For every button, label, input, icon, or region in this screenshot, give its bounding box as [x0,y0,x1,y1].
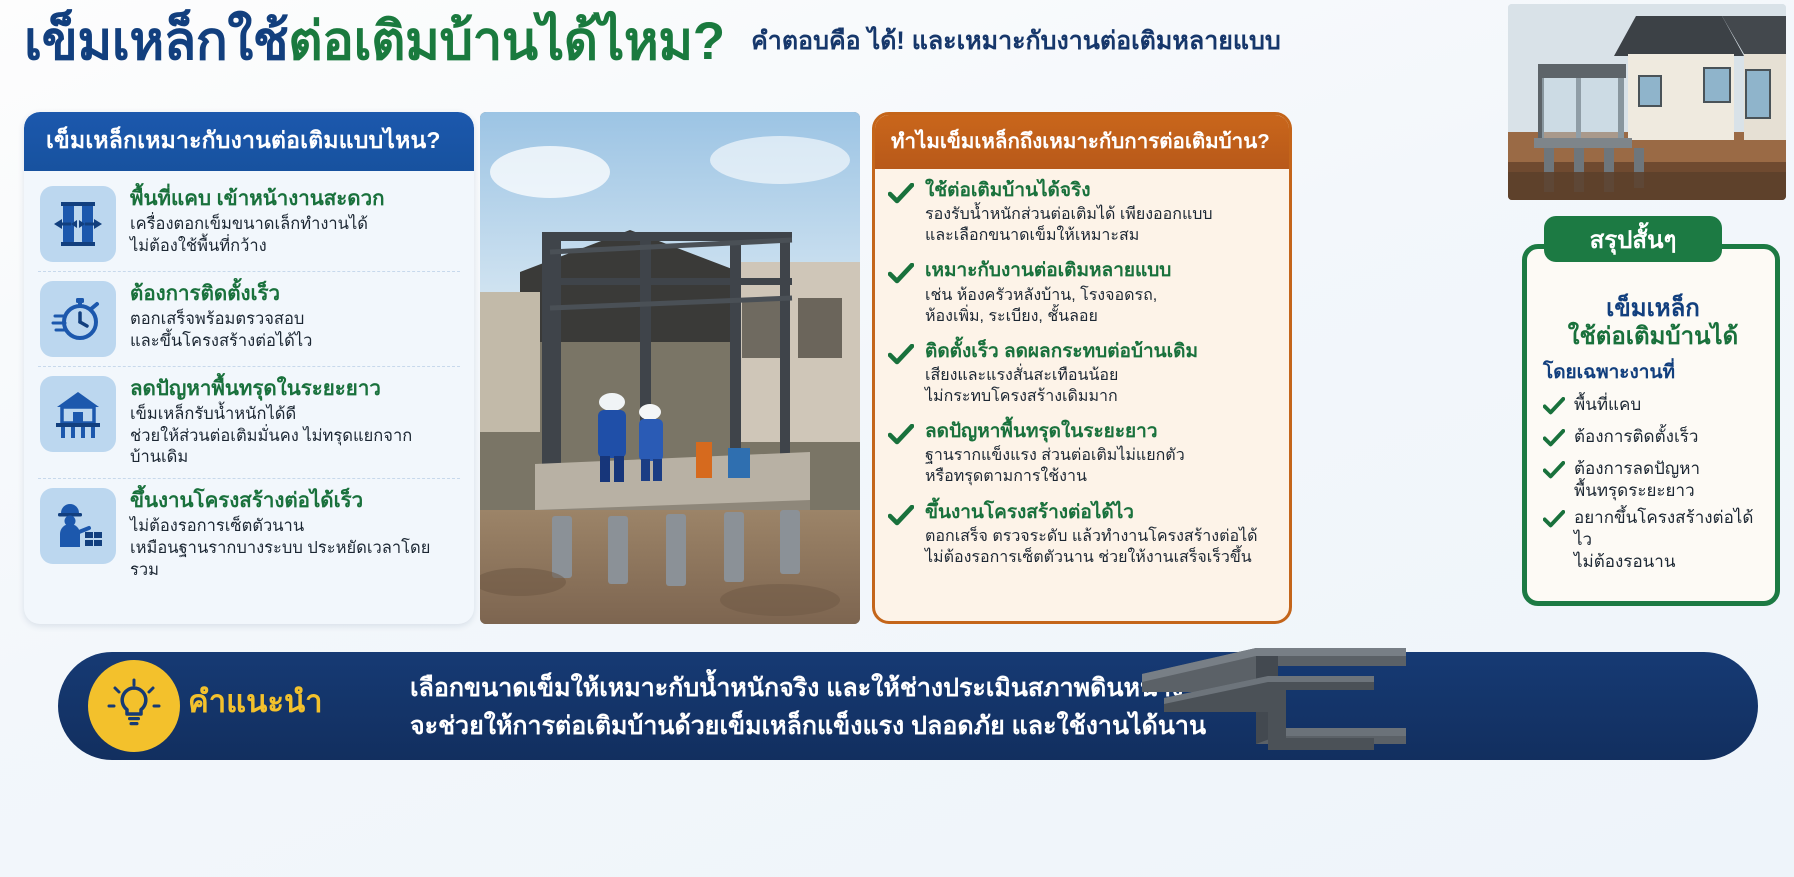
check-icon [888,420,914,487]
list-item-desc-1: เข็มเหล็กรับน้ำหนักได้ดี [130,404,412,426]
list-item-desc-1: เช่น ห้องครัวหลังบ้าน, โรงจอดรถ, [925,285,1171,306]
check-icon-svg [1543,510,1565,529]
list-item-text: ใช้ต่อเติมบ้านได้จริง รองรับน้ำหนักส่วนต… [925,179,1213,246]
list-item-text: ลดปัญหาพื้นทรุดในระยะยาว เข็มเหล็กรับน้ำ… [130,376,412,469]
check-icon [888,259,914,326]
right-panel-heading: ทำไมเข็มเหล็กถึงเหมาะกับการต่อเติมบ้าน? [875,115,1289,169]
list-item-title: ติดตั้งเร็ว ลดผลกระทบต่อบ้านเดิม [925,340,1198,363]
list-item-desc-3: บ้านเดิม [130,447,412,469]
house-illustration-svg [1508,4,1786,200]
list-item-desc-1: ไม่ต้องรอการเซ็ตตัวนาน [130,516,458,538]
list-item-title: ลดปัญหาพื้นทรุดในระยะยาว [925,420,1185,443]
list-item-title: เหมาะกับงานต่อเติมหลายแบบ [925,259,1171,282]
check-icon-svg [888,505,914,527]
list-item-desc-2: ไม่กระทบโครงสร้างเดิมมาก [925,386,1198,407]
narrow-space-icon-svg [51,197,105,251]
check-icon-svg [1543,397,1565,416]
list-item: ขึ้นงานโครงสร้างต่อได้ไว ตอกเสร็จ ตรวจระ… [888,501,1274,568]
check-icon [888,179,914,246]
list-item-text: พื้นที่แคบ เข้าหน้างานสะดวก เครื่องตอกเข… [130,186,385,262]
advice-keyword: คำแนะนำ [188,676,323,726]
steel-i-beam-illustration [1128,632,1406,754]
list-item: ต้องการลดปัญหา พื้นทรุดระยะยาว [1543,458,1763,502]
list-item: ต้องการติดตั้งเร็ว [1543,426,1763,453]
check-icon [888,501,914,568]
check-icon-svg [1543,461,1565,480]
list-item-desc-1: รองรับน้ำหนักส่วนต่อเติมได้ เพียงออกแบบ [925,204,1213,225]
list-item: อยากขึ้นโครงสร้างต่อได้ไว ไม่ต้องรอนาน [1543,507,1763,573]
worker-bricklaying-icon [40,488,116,564]
list-item-text: ติดตั้งเร็ว ลดผลกระทบต่อบ้านเดิม เสียงแล… [925,340,1198,407]
list-item-title: ขึ้นงานโครงสร้างต่อได้เร็ว [130,489,458,514]
check-icon-svg [888,424,914,446]
advice-line-2: จะช่วยให้การต่อเติมบ้านด้วยเข็มเหล็กแข็ง… [410,706,1206,746]
check-icon-svg [1543,429,1565,448]
list-item-desc-2: และขึ้นโครงสร้างต่อได้ไว [130,331,312,353]
steel-i-beam-illustration-svg [1128,632,1406,754]
stopwatch-icon [40,281,116,357]
house-on-piles-icon-svg [51,387,105,441]
list-item: ลดปัญหาพื้นทรุดในระยะยาว ฐานรากแข็งแรง ส… [888,420,1274,487]
list-item-text: ต้องการติดตั้งเร็ว ตอกเสร็จพร้อมตรวจสอบ … [130,281,312,357]
summary-tag: สรุปสั้นๆ [1544,216,1722,262]
check-icon-svg [888,183,914,205]
list-item: ขึ้นงานโครงสร้างต่อได้เร็ว ไม่ต้องรอการเ… [38,479,460,590]
summary-item-line-1: อยากขึ้นโครงสร้างต่อได้ไว [1574,508,1753,549]
list-item-desc-2: ไม่ต้องใช้พื้นที่กว้าง [130,236,385,258]
summary-line-2: ใช้ต่อเติมบ้านได้ [1543,323,1763,351]
worker-bricklaying-icon-svg [51,499,105,553]
page-title-part1: เข็มเหล็กใช้ [24,12,288,71]
page-subtitle: คำตอบคือ ได้! และเหมาะกับงานต่อเติมหลายแ… [751,21,1281,61]
list-item-text: อยากขึ้นโครงสร้างต่อได้ไว ไม่ต้องรอนาน [1574,507,1763,573]
construction-site-photo [480,112,860,624]
summary-item-line-1: ต้องการลดปัญหา [1574,459,1700,478]
summary-line-3: โดยเฉพาะงานที่ [1543,357,1763,387]
list-item-title: ขึ้นงานโครงสร้างต่อได้ไว [925,501,1258,524]
summary-item-line-1: พื้นที่แคบ [1574,395,1641,414]
check-icon-svg [888,344,914,366]
list-item-desc-2: ห้องเพิ่ม, ระเบียง, ชั้นลอย [925,306,1171,327]
list-item-text: ขึ้นงานโครงสร้างต่อได้ไว ตอกเสร็จ ตรวจระ… [925,501,1258,568]
page-title: เข็มเหล็กใช้ต่อเติมบ้านได้ไหม? [24,14,725,70]
page-title-part2: ต่อเติมบ้านได้ไหม? [288,12,724,71]
left-panel: เข็มเหล็กเหมาะกับงานต่อเติมแบบไหน? [24,112,474,624]
right-panel: ทำไมเข็มเหล็กถึงเหมาะกับการต่อเติมบ้าน? … [872,112,1292,624]
summary-box: เข็มเหล็ก ใช้ต่อเติมบ้านได้ โดยเฉพาะงานท… [1522,244,1780,606]
construction-site-photo-svg [480,112,860,624]
check-icon [1543,426,1565,453]
list-item: ใช้ต่อเติมบ้านได้จริง รองรับน้ำหนักส่วนต… [888,179,1274,246]
list-item-title: พื้นที่แคบ เข้าหน้างานสะดวก [130,187,385,212]
summary-item-line-2: พื้นทรุดระยะยาว [1574,481,1695,500]
list-item-text: ต้องการติดตั้งเร็ว [1574,426,1698,453]
list-item-desc-1: ฐานรากแข็งแรง ส่วนต่อเติมไม่แยกตัว [925,445,1185,466]
list-item-desc-1: เสียงและแรงสั่นสะเทือนน้อย [925,365,1198,386]
check-icon-svg [888,263,914,285]
list-item-desc-2: ช่วยให้ส่วนต่อเติมมั่นคง ไม่ทรุดแยกจาก [130,426,412,448]
list-item: พื้นที่แคบ เข้าหน้างานสะดวก เครื่องตอกเข… [38,177,460,272]
list-item-title: ต้องการติดตั้งเร็ว [130,282,312,307]
list-item-text: ขึ้นงานโครงสร้างต่อได้เร็ว ไม่ต้องรอการเ… [130,488,458,581]
stopwatch-icon-svg [51,292,105,346]
check-icon [1543,507,1565,573]
list-item: ติดตั้งเร็ว ลดผลกระทบต่อบ้านเดิม เสียงแล… [888,340,1274,407]
list-item-desc-2: และเลือกขนาดเข็มให้เหมาะสม [925,225,1213,246]
list-item-title: ใช้ต่อเติมบ้านได้จริง [925,179,1213,202]
check-icon [1543,458,1565,502]
list-item: เหมาะกับงานต่อเติมหลายแบบ เช่น ห้องครัวห… [888,259,1274,326]
list-item-desc-2: ไม่ต้องรอการเซ็ตตัวนาน ช่วยให้งานเสร็จเร… [925,547,1258,568]
list-item: ต้องการติดตั้งเร็ว ตอกเสร็จพร้อมตรวจสอบ … [38,272,460,367]
right-panel-body: ใช้ต่อเติมบ้านได้จริง รองรับน้ำหนักส่วนต… [875,169,1289,576]
summary-item-line-2: ไม่ต้องรอนาน [1574,552,1675,571]
list-item-text: เหมาะกับงานต่อเติมหลายแบบ เช่น ห้องครัวห… [925,259,1171,326]
summary-body: เข็มเหล็ก ใช้ต่อเติมบ้านได้ โดยเฉพาะงานท… [1527,249,1775,588]
list-item-text: ต้องการลดปัญหา พื้นทรุดระยะยาว [1574,458,1700,502]
left-panel-body: พื้นที่แคบ เข้าหน้างานสะดวก เครื่องตอกเข… [24,171,474,595]
list-item-title: ลดปัญหาพื้นทรุดในระยะยาว [130,377,412,402]
list-item: พื้นที่แคบ [1543,394,1763,421]
narrow-space-icon [40,186,116,262]
list-item-text: พื้นที่แคบ [1574,394,1641,421]
lightbulb-icon [88,660,180,752]
list-item-desc-2: หรือทรุดตามการใช้งาน [925,466,1185,487]
check-icon [1543,394,1565,421]
left-panel-heading: เข็มเหล็กเหมาะกับงานต่อเติมแบบไหน? [24,112,474,171]
lightbulb-icon-svg [106,678,162,734]
house-on-piles-icon [40,376,116,452]
header: เข็มเหล็กใช้ต่อเติมบ้านได้ไหม? คำตอบคือ … [24,14,1584,109]
house-illustration [1508,4,1786,200]
list-item-desc-1: ตอกเสร็จพร้อมตรวจสอบ [130,309,312,331]
list-item-desc-1: เครื่องตอกเข็มขนาดเล็กทำงานได้ [130,214,385,236]
list-item: ลดปัญหาพื้นทรุดในระยะยาว เข็มเหล็กรับน้ำ… [38,367,460,479]
summary-item-line-1: ต้องการติดตั้งเร็ว [1574,427,1698,446]
list-item-desc-2: เหมือนฐานรากบางระบบ ประหยัดเวลาโดยรวม [130,538,458,582]
list-item-desc-1: ตอกเสร็จ ตรวจระดับ แล้วทำงานโครงสร้างต่อ… [925,526,1258,547]
infographic-page: เข็มเหล็กใช้ต่อเติมบ้านได้ไหม? คำตอบคือ … [0,0,1794,877]
list-item-text: ลดปัญหาพื้นทรุดในระยะยาว ฐานรากแข็งแรง ส… [925,420,1185,487]
summary-line-1: เข็มเหล็ก [1543,295,1763,323]
advice-line-1: เลือกขนาดเข็มให้เหมาะกับน้ำหนักจริง และใ… [410,668,1214,708]
check-icon [888,340,914,407]
